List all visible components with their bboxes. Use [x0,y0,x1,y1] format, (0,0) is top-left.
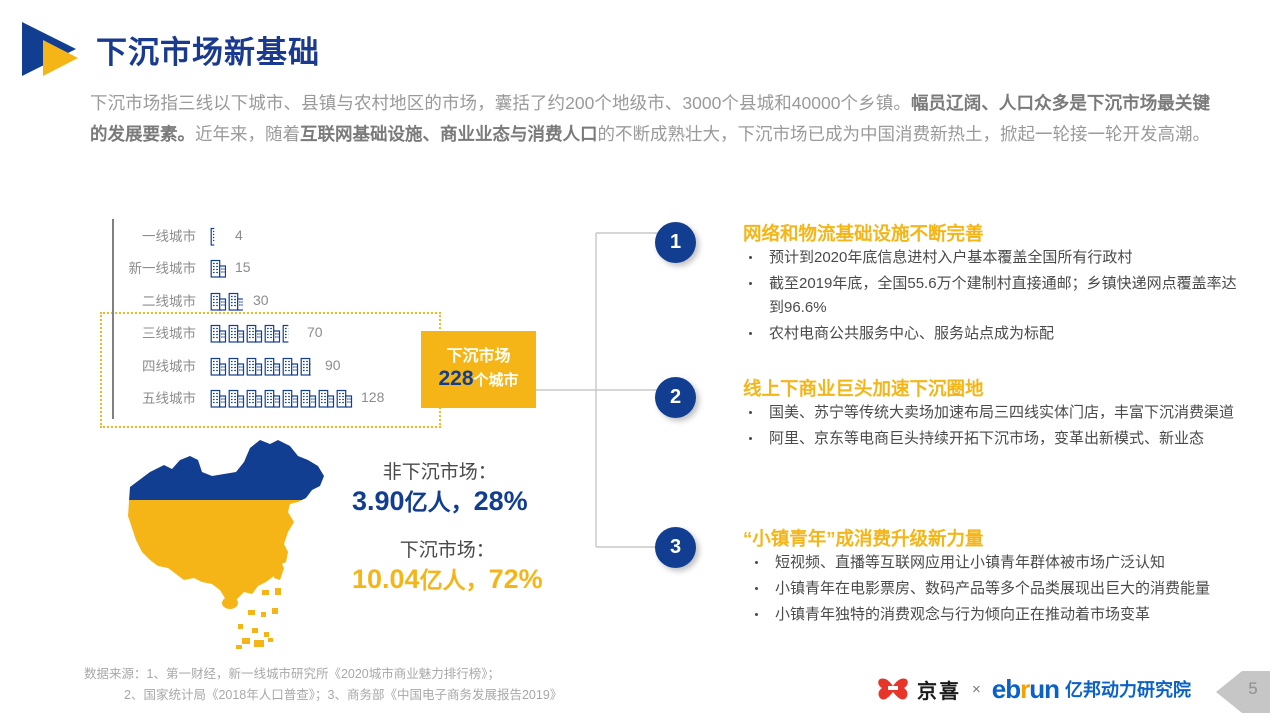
chart-row-value: 4 [235,227,243,243]
building-icon [210,388,227,408]
sinking-market-callout: 下沉市场 228个城市 [421,331,536,408]
bracket-connector [536,225,666,555]
list-item: 阿里、京东等电商巨头持续开拓下沉市场，变革出新模式、新业态 [741,427,1251,451]
stat-caption: 非下沉市场： [352,460,528,486]
intro-paragraph: 下沉市场指三线以下城市、县镇与农村地区的市场，囊括了约200个地级市、3000个… [90,88,1210,150]
stat-unit: 亿人， [420,567,489,593]
building-icon [246,323,263,343]
ebrun-mid: r [1020,674,1029,704]
building-icon [228,323,245,343]
stat-non-sinking: 非下沉市场： 3.90亿人，28% [352,460,528,517]
list-item: 农村电商公共服务中心、服务站点成为标配 [741,322,1251,346]
point-number-badge: 3 [655,527,696,568]
chart-row-label: 一线城市 [100,225,206,245]
building-icon [282,356,299,376]
chart-row-value: 90 [325,357,341,373]
chart-row-icons [210,256,228,278]
chart-row-value: 70 [307,324,323,340]
slide-root: 下沉市场新基础 下沉市场指三线以下城市、县镇与农村地区的市场，囊括了约200个地… [0,0,1279,719]
stat-number: 10.04 [352,564,420,594]
stat-unit: 亿人， [405,489,474,515]
building-icon [300,388,317,408]
source-line-2: 2、国家统计局《2018年人口普查》；3、商务部《中国电子商务发展报告2019》 [84,685,562,706]
callout-line2: 228个城市 [438,367,518,393]
intro-text: 下沉市场指三线以下城市、县镇与农村地区的市场，囊括了约200个地级市、3000个… [90,93,911,113]
chart-row: 四线城市90 [100,349,341,380]
point-heading: “小镇青年”成消费升级新力量 [743,525,984,551]
brand-logos: 京喜 × ebrun 亿邦动力研究院 [876,670,1191,708]
chart-row-icons [210,224,228,246]
play-triangle-logo-icon [16,18,82,80]
data-source-note: 数据来源：1、第一财经，新一线城市研究所《2020城市商业魅力排行榜》； 2、国… [84,664,562,706]
building-icon [246,356,263,376]
building-icon [282,323,299,343]
building-icon [210,258,227,278]
stat-caption: 下沉市场： [352,538,543,564]
chart-row-icons [210,289,246,311]
source-line-1: 数据来源：1、第一财经，新一线城市研究所《2020城市商业魅力排行榜》； [84,664,562,685]
chart-row-value: 15 [235,259,251,275]
building-icon [282,388,299,408]
list-item: 小镇青年在电影票房、数码产品等多个品类展现出巨大的消费能量 [747,577,1257,601]
callout-suffix: 个城市 [474,372,519,389]
page-title: 下沉市场新基础 [96,27,320,72]
page-number: 5 [1242,679,1264,699]
jingxi-logo-icon [876,676,910,702]
chart-row: 二线城市30 [100,284,269,315]
stat-number: 3.90 [352,486,405,516]
chart-row-value: 30 [253,292,269,308]
building-icon [228,291,245,311]
building-icon [210,291,227,311]
ebrun-chinese-label: 亿邦动力研究院 [1065,676,1191,702]
point-number-badge: 1 [655,222,696,263]
building-icon [264,356,281,376]
chart-row-label: 新一线城市 [100,257,206,277]
chart-row-icons [210,321,300,343]
intro-emphasis: 互联网基础设施、商业业态与消费人口 [300,124,598,144]
callout-number: 228 [438,367,473,390]
stat-percent: 72% [489,564,543,594]
intro-text: 近年来，随着 [195,124,300,144]
building-icon [210,323,227,343]
list-item: 短视频、直播等互联网应用让小镇青年群体被市场广泛认知 [747,551,1257,575]
point-bullet-list: 短视频、直播等互联网应用让小镇青年群体被市场广泛认知 小镇青年在电影票房、数码产… [747,551,1257,629]
list-item: 国美、苏宁等传统大卖场加速布局三四线实体门店，丰富下沉消费渠道 [741,401,1251,425]
point-bullet-list: 预计到2020年底信息进村入户基本覆盖全国所有行政村 截至2019年底，全国55… [741,246,1251,348]
china-map [128,432,333,650]
building-icon [336,388,353,408]
point-heading: 网络和物流基础设施不断完善 [743,220,984,246]
chart-row-label: 二线城市 [100,290,206,310]
building-icon [246,388,263,408]
building-icon [228,356,245,376]
chart-row-label: 五线城市 [100,387,206,407]
chart-row-label: 四线城市 [100,355,206,375]
building-icon [210,356,227,376]
stat-value: 3.90亿人，28% [352,486,528,517]
point-bullet-list: 国美、苏宁等传统大卖场加速布局三四线实体门店，丰富下沉消费渠道 阿里、京东等电商… [741,401,1251,453]
jingxi-label: 京喜 [917,675,961,704]
building-icon [210,226,227,246]
list-item: 预计到2020年底信息进村入户基本覆盖全国所有行政村 [741,246,1251,270]
callout-line1: 下沉市场 [446,346,510,367]
chart-row-label: 三线城市 [100,322,206,342]
chart-row-icons [210,386,354,408]
chart-row: 三线城市70 [100,317,323,348]
chart-row-value: 128 [361,389,384,405]
list-item: 小镇青年独特的消费观念与行为倾向正在推动着市场变革 [747,603,1257,627]
ebrun-logo-label: ebrun [992,674,1059,705]
chart-row: 一线城市4 [100,219,243,250]
ebrun-right: un [1029,674,1059,704]
chart-row: 新一线城市15 [100,252,251,283]
list-item: 截至2019年底，全国55.6万个建制村直接通邮；乡镇快递网点覆盖率达到96.6… [741,272,1251,320]
point-number-badge: 2 [655,377,696,418]
ebrun-left: eb [992,674,1020,704]
chart-row-icons [210,354,318,376]
stat-sinking: 下沉市场： 10.04亿人，72% [352,538,543,595]
building-icon [300,356,317,376]
stat-value: 10.04亿人，72% [352,564,543,595]
intro-text: 的不断成熟壮大，下沉市场已成为中国消费新热土，掀起一轮接一轮开发高潮。 [598,124,1211,144]
brand-separator: × [972,681,981,698]
building-icon [228,388,245,408]
city-tier-pictogram-chart: 一线城市4新一线城市15二线城市30三线城市70四线城市90五线城市128 [100,215,450,430]
building-icon [264,388,281,408]
building-icon [318,388,335,408]
chart-row: 五线城市128 [100,382,384,413]
point-heading: 线上下商业巨头加速下沉圈地 [743,375,984,401]
stat-percent: 28% [474,486,528,516]
building-icon [264,323,281,343]
